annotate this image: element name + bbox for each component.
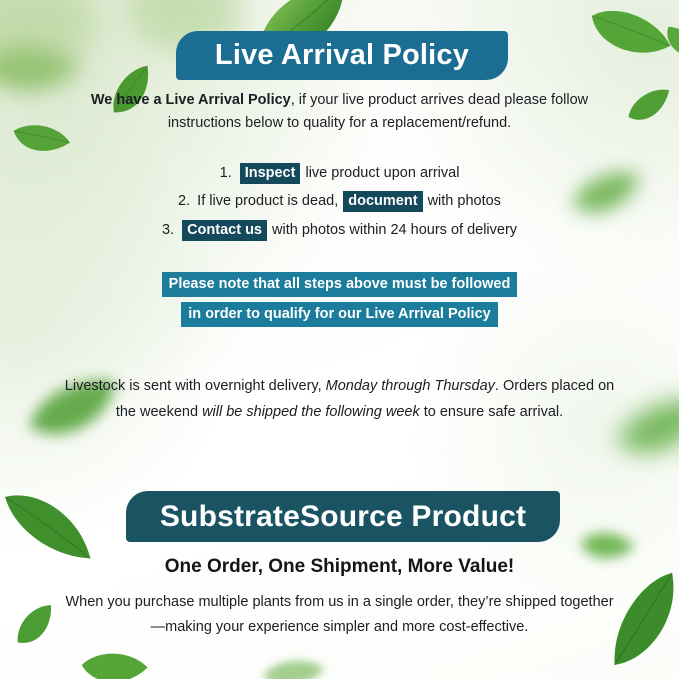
step-number: 1. [220,165,232,181]
list-item: 3. Contact us with photos within 24 hour… [60,222,619,239]
step-number: 2. [178,193,190,209]
banner-live-arrival-policy: Live Arrival Policy [176,31,508,80]
list-item: 2. If live product is dead, document wit… [60,193,619,210]
live-arrival-policy-infographic: Live Arrival Policy We have a Live Arriv… [0,0,679,679]
livestock-italic-2: will be shipped the following week [202,404,420,420]
banner-live-arrival-policy-label: Live Arrival Policy [215,41,469,70]
banner-substratesource-product-label: SubstrateSource Product [160,502,526,532]
step-highlight-contact-us: Contact us [182,220,267,241]
step-highlight-inspect: Inspect [240,163,301,184]
livestock-italic-1: Monday through Thursday [326,378,495,394]
list-item: 1. Inspect live product upon arrival [60,165,619,182]
livestock-part-3: to ensure safe arrival. [420,404,563,420]
step-text-before: If live product is dead, [197,193,338,209]
steps-list: 1. Inspect live product upon arrival 2. … [60,165,619,250]
step-text-after: with photos within 24 hours of delivery [272,222,517,238]
note-line-2: in order to qualify for our Live Arrival… [181,302,497,327]
intro-paragraph: We have a Live Arrival Policy, if your l… [60,89,619,136]
product-body-paragraph: When you purchase multiple plants from u… [60,590,619,640]
banner-substratesource-product: SubstrateSource Product [126,491,560,542]
step-text-after: with photos [428,193,501,209]
intro-bold-lead: We have a Live Arrival Policy [91,92,291,108]
please-note-callout: Please note that all steps above must be… [60,272,619,332]
product-tagline: One Order, One Shipment, More Value! [60,556,619,578]
livestock-shipping-paragraph: Livestock is sent with overnight deliver… [60,374,619,426]
livestock-part-1: Livestock is sent with overnight deliver… [65,378,326,394]
note-line-1: Please note that all steps above must be… [162,272,518,297]
step-highlight-document: document [343,191,422,212]
step-number: 3. [162,222,174,238]
step-text-after: live product upon arrival [305,165,459,181]
